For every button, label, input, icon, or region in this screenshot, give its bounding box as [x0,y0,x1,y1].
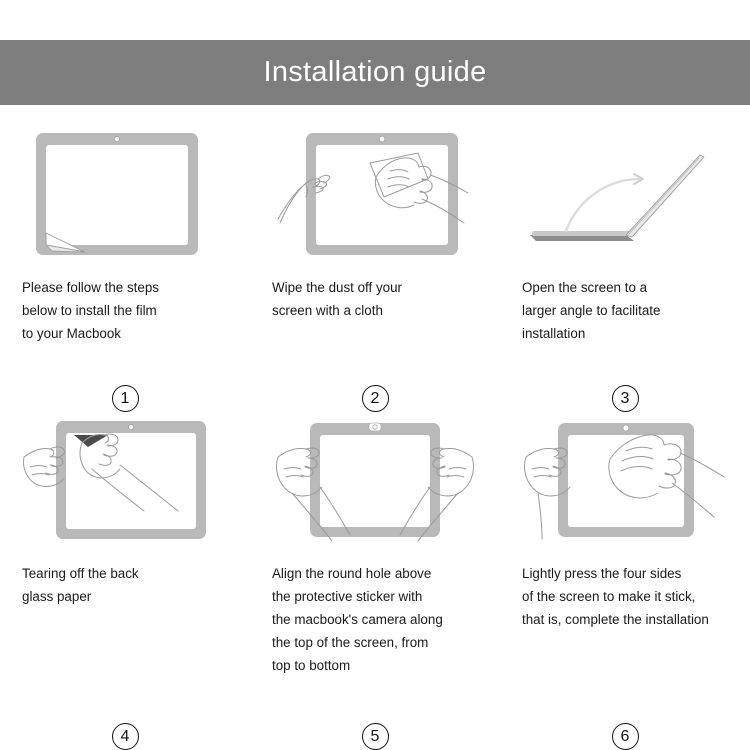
step-row-top: Please follow the steps below to install… [0,127,750,427]
step-cell-1: Please follow the steps below to install… [0,127,250,427]
step-caption-2: Wipe the dust off your screen with a clo… [272,276,484,322]
step-caption-1: Please follow the steps below to install… [22,276,234,345]
step-caption-6: Lightly press the four sides of the scre… [522,562,734,631]
illustration-wiping-screen-with-cloth [272,127,478,262]
installation-steps-grid: Please follow the steps below to install… [0,105,750,750]
step-cell-3: Open the screen to a larger angle to fac… [500,127,750,427]
illustration-tearing-backing-paper [22,413,228,548]
step-caption-3: Open the screen to a larger angle to fac… [522,276,734,345]
illustration-pressing-screen-edges [522,413,728,548]
illustration-aligning-film-two-hands [272,413,478,548]
step-cell-4: Tearing off the back glass paper [0,413,250,743]
header-banner: Installation guide [0,40,750,105]
step-caption-5: Align the round hole above the protectiv… [272,562,484,677]
step-cell-5: Align the round hole above the protectiv… [250,413,500,743]
step-caption-4: Tearing off the back glass paper [22,562,234,608]
step-cell-2: Wipe the dust off your screen with a clo… [250,127,500,427]
step-cell-6: Lightly press the four sides of the scre… [500,413,750,743]
step-row-bottom: Tearing off the back glass paper [0,413,750,743]
illustration-macbook-with-peeling-film [22,127,228,262]
illustration-laptop-opening-angle [522,127,728,262]
page-title: Installation guide [263,58,486,87]
